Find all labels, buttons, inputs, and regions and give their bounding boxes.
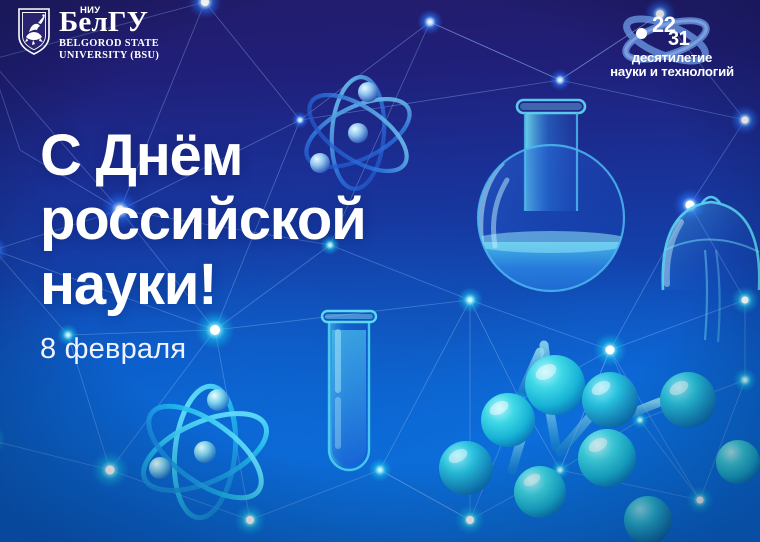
logo-subtitle-line1: BELGOROD STATE xyxy=(59,38,159,50)
headline-date: 8 февраля xyxy=(40,333,480,366)
logo-wordmark-text: БелГУ xyxy=(59,6,148,38)
decade-caption-line2: науки и технологий xyxy=(606,64,738,79)
poster-canvas: БелГУ НИУ BELGOROD STATE UNIVERSITY (BSU… xyxy=(0,0,760,542)
logo-superscript: НИУ xyxy=(80,6,101,15)
logo-wordmark: БелГУ НИУ xyxy=(59,9,159,37)
headline-line-2: российской xyxy=(40,192,480,248)
headline-line-1: С Днём xyxy=(40,128,480,184)
decade-dot-icon xyxy=(636,28,647,39)
decade-caption-line1: десятилетие xyxy=(606,50,738,65)
belgorod-coat-of-arms-shield xyxy=(16,7,52,55)
university-logo[interactable]: БелГУ НИУ BELGOROD STATE UNIVERSITY (BSU… xyxy=(16,7,159,62)
decade-of-science-logo[interactable]: 22 31 десятилетие науки и технологий xyxy=(606,14,738,80)
decade-year-end: 31 xyxy=(668,28,689,51)
logo-wordmark-block: БелГУ НИУ BELGOROD STATE UNIVERSITY (BSU… xyxy=(59,7,159,62)
headline-block: С Днём российской науки! 8 февраля xyxy=(40,128,480,366)
headline-line-3: науки! xyxy=(40,257,480,313)
logo-subtitle-line2: UNIVERSITY (BSU) xyxy=(59,50,159,62)
